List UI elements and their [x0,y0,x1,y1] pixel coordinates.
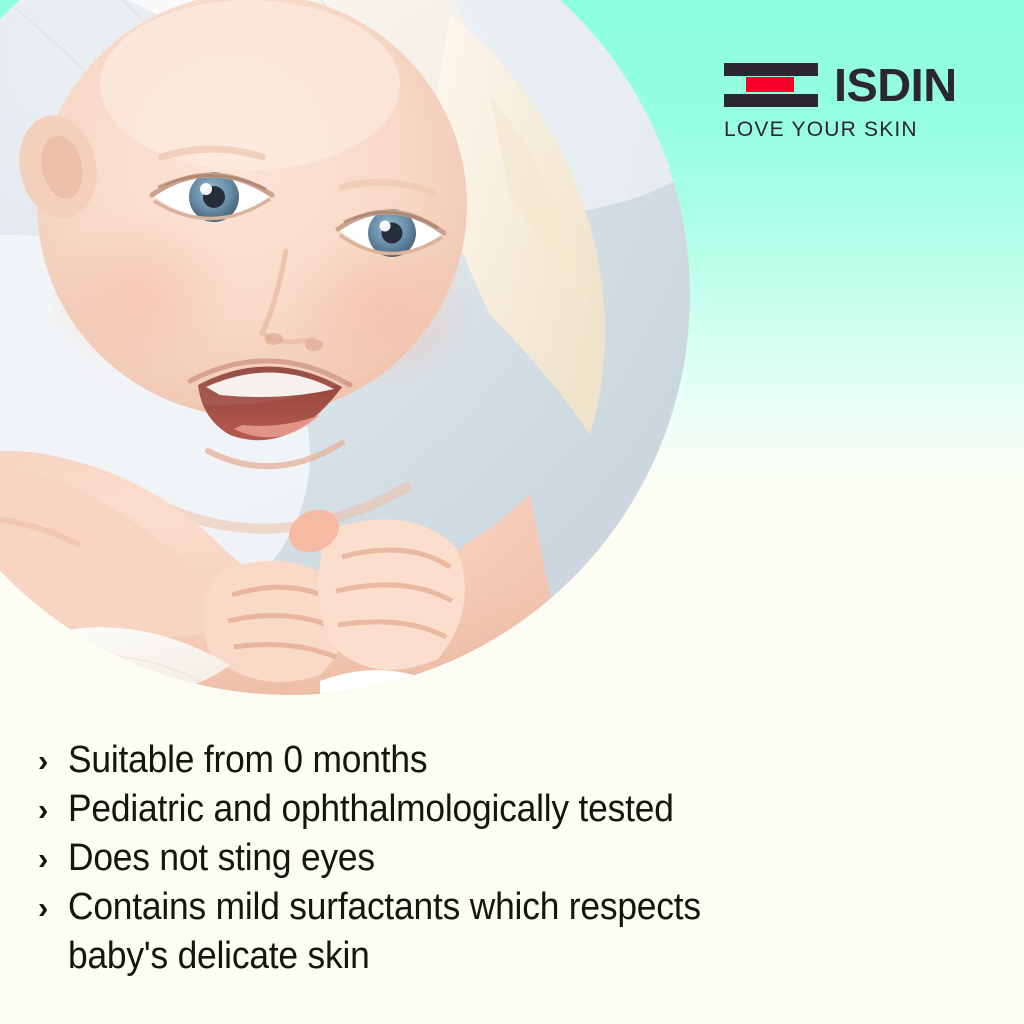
list-item-label: Suitable from 0 months [68,736,905,785]
smiling-baby-in-white-towel-photo [0,0,690,695]
brand-wordmark: ISDIN [834,62,957,108]
brand-tagline: LOVE YOUR SKIN [724,118,974,142]
logo-top-row: ISDIN [724,60,974,110]
list-item-label: Pediatric and ophthalmologically tested [68,785,905,834]
chevron-right-icon: › [38,785,68,834]
product-feature-card: ISDIN LOVE YOUR SKIN › Suitable from 0 m… [0,0,1024,1024]
chevron-right-icon: › [38,883,68,932]
list-item: › Pediatric and ophthalmologically teste… [38,785,968,834]
list-item-label: Does not sting eyes [68,834,905,883]
hero-photo-circle [0,0,690,695]
isdin-logo: ISDIN LOVE YOUR SKIN [724,60,974,142]
isdin-bars-logo-icon [724,61,818,109]
chevron-right-icon: › [38,736,68,785]
chevron-right-icon: › [38,834,68,883]
list-item: › Contains mild surfactants which respec… [38,883,968,981]
feature-list: › Suitable from 0 months › Pediatric and… [38,736,968,981]
list-item: › Does not sting eyes [38,834,968,883]
list-item-label: Contains mild surfactants which respects… [68,883,905,981]
list-item: › Suitable from 0 months [38,736,968,785]
